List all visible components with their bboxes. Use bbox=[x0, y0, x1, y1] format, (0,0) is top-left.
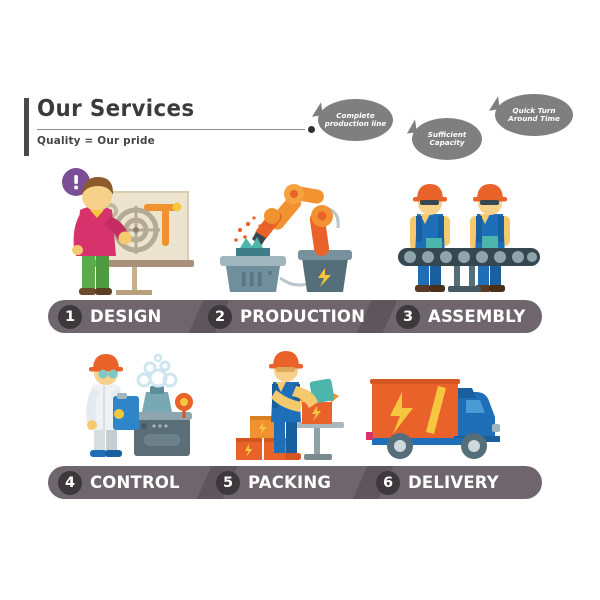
bubble-tail bbox=[487, 96, 500, 110]
bubble-text: Complete production line bbox=[319, 112, 393, 129]
quality-inspector-illustration bbox=[72, 346, 202, 462]
step-assembly[interactable]: 3 ASSEMBLY bbox=[396, 300, 528, 333]
delivery-truck-illustration bbox=[358, 362, 508, 462]
infographic-canvas: Our Services Quality = Our pride Complet… bbox=[0, 0, 600, 600]
page-title: Our Services bbox=[37, 96, 195, 122]
step-banner-row-2: 4 CONTROL 5 PACKING 6 DELIVERY bbox=[48, 466, 542, 499]
step-banner-row-1: 1 DESIGN 2 PRODUCTION 3 ASSEMBLY bbox=[48, 300, 542, 333]
step-label: DESIGN bbox=[90, 307, 161, 327]
title-divider-dot bbox=[308, 126, 315, 133]
step-label: DELIVERY bbox=[408, 473, 499, 493]
step-control[interactable]: 4 CONTROL bbox=[58, 466, 183, 499]
step-label: ASSEMBLY bbox=[428, 307, 525, 327]
step-delivery[interactable]: 6 DELIVERY bbox=[376, 466, 502, 499]
step-design[interactable]: 1 DESIGN bbox=[58, 300, 164, 333]
bubble-line-2: Capacity bbox=[430, 138, 465, 147]
step-number-badge: 6 bbox=[376, 471, 400, 495]
step-number-badge: 2 bbox=[208, 305, 232, 329]
worker-packing-boxes-illustration bbox=[216, 346, 356, 462]
header-accent-bar bbox=[24, 98, 29, 156]
step-number-badge: 3 bbox=[396, 305, 420, 329]
page-subtitle: Quality = Our pride bbox=[37, 134, 155, 147]
bubble-tail bbox=[405, 119, 417, 133]
step-packing[interactable]: 5 PACKING bbox=[216, 466, 334, 499]
bubble-line-2: Around Time bbox=[508, 114, 560, 123]
step-label: PACKING bbox=[248, 473, 331, 493]
step-number-badge: 1 bbox=[58, 305, 82, 329]
step-number-badge: 5 bbox=[216, 471, 240, 495]
workers-at-conveyor-illustration bbox=[396, 180, 542, 296]
step-number-badge: 4 bbox=[58, 471, 82, 495]
bubble-line-2: production line bbox=[325, 119, 387, 128]
bubble-text: Sufficient Capacity bbox=[422, 131, 473, 148]
bubble-text: Quick Turn Around Time bbox=[502, 107, 566, 124]
step-production[interactable]: 2 PRODUCTION bbox=[208, 300, 369, 333]
step-label: CONTROL bbox=[90, 473, 180, 493]
step-label: PRODUCTION bbox=[240, 307, 365, 327]
designer-at-easel-illustration bbox=[52, 166, 200, 296]
robot-arm-welding-illustration bbox=[212, 182, 360, 296]
header: Our Services Quality = Our pride bbox=[24, 96, 314, 158]
speech-bubble-quick-turn-around-time: Quick Turn Around Time bbox=[495, 94, 573, 136]
speech-bubble-sufficient-capacity: Sufficient Capacity bbox=[412, 118, 482, 160]
speech-bubble-complete-production-line: Complete production line bbox=[318, 99, 393, 141]
title-divider-line bbox=[37, 129, 305, 130]
